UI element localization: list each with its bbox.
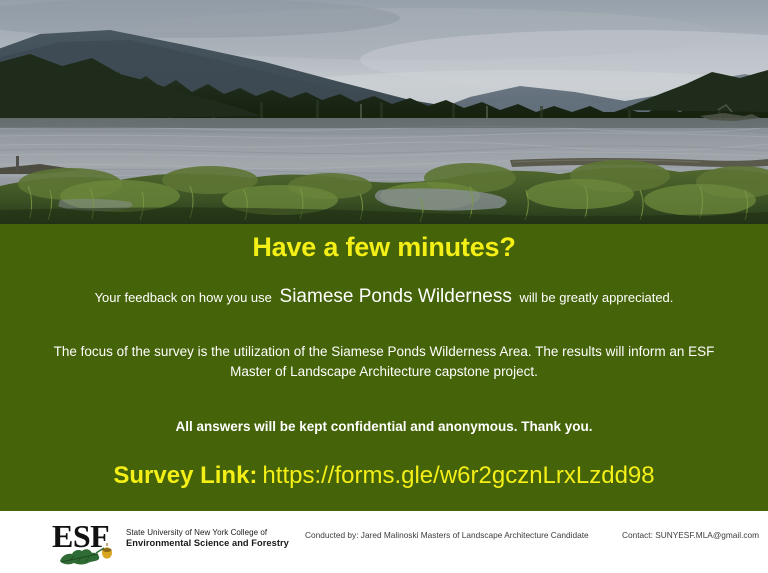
feedback-suffix: will be greatly appreciated.: [519, 290, 673, 305]
footer-bar: ESF State Un: [0, 511, 768, 573]
esf-tagline-line2: Environmental Science and Forestry: [126, 538, 306, 549]
contact-email: Contact: SUNYESF.MLA@gmail.com: [622, 530, 759, 540]
confidentiality-notice: All answers will be kept confidential an…: [0, 419, 768, 434]
feedback-line: Your feedback on how you use Siamese Pon…: [0, 286, 768, 308]
adirondack-lake-photograph: [0, 0, 768, 225]
conducted-by-credit: Conducted by: Jared Malinoski Masters of…: [305, 530, 589, 540]
survey-focus-text: The focus of the survey is the utilizati…: [34, 342, 734, 382]
svg-text:ESF: ESF: [52, 518, 109, 554]
survey-link-url[interactable]: https://forms.gle/w6r2gcznLrxLzdd98: [262, 462, 654, 489]
survey-link-label: Survey Link:: [113, 462, 262, 489]
page-title: Have a few minutes?: [0, 232, 768, 263]
wilderness-name: Siamese Ponds Wilderness: [276, 286, 516, 307]
survey-link-line: Survey Link:https://forms.gle/w6r2gcznLr…: [0, 462, 768, 490]
esf-wordmark-icon: ESF: [52, 517, 124, 567]
esf-tagline-line1: State University of New York College of: [126, 527, 306, 538]
survey-poster: Have a few minutes? Your feedback on how…: [0, 0, 768, 573]
feedback-prefix: Your feedback on how you use: [95, 290, 272, 305]
esf-logo: ESF State Un: [52, 517, 292, 569]
esf-tagline: State University of New York College of …: [126, 527, 306, 549]
